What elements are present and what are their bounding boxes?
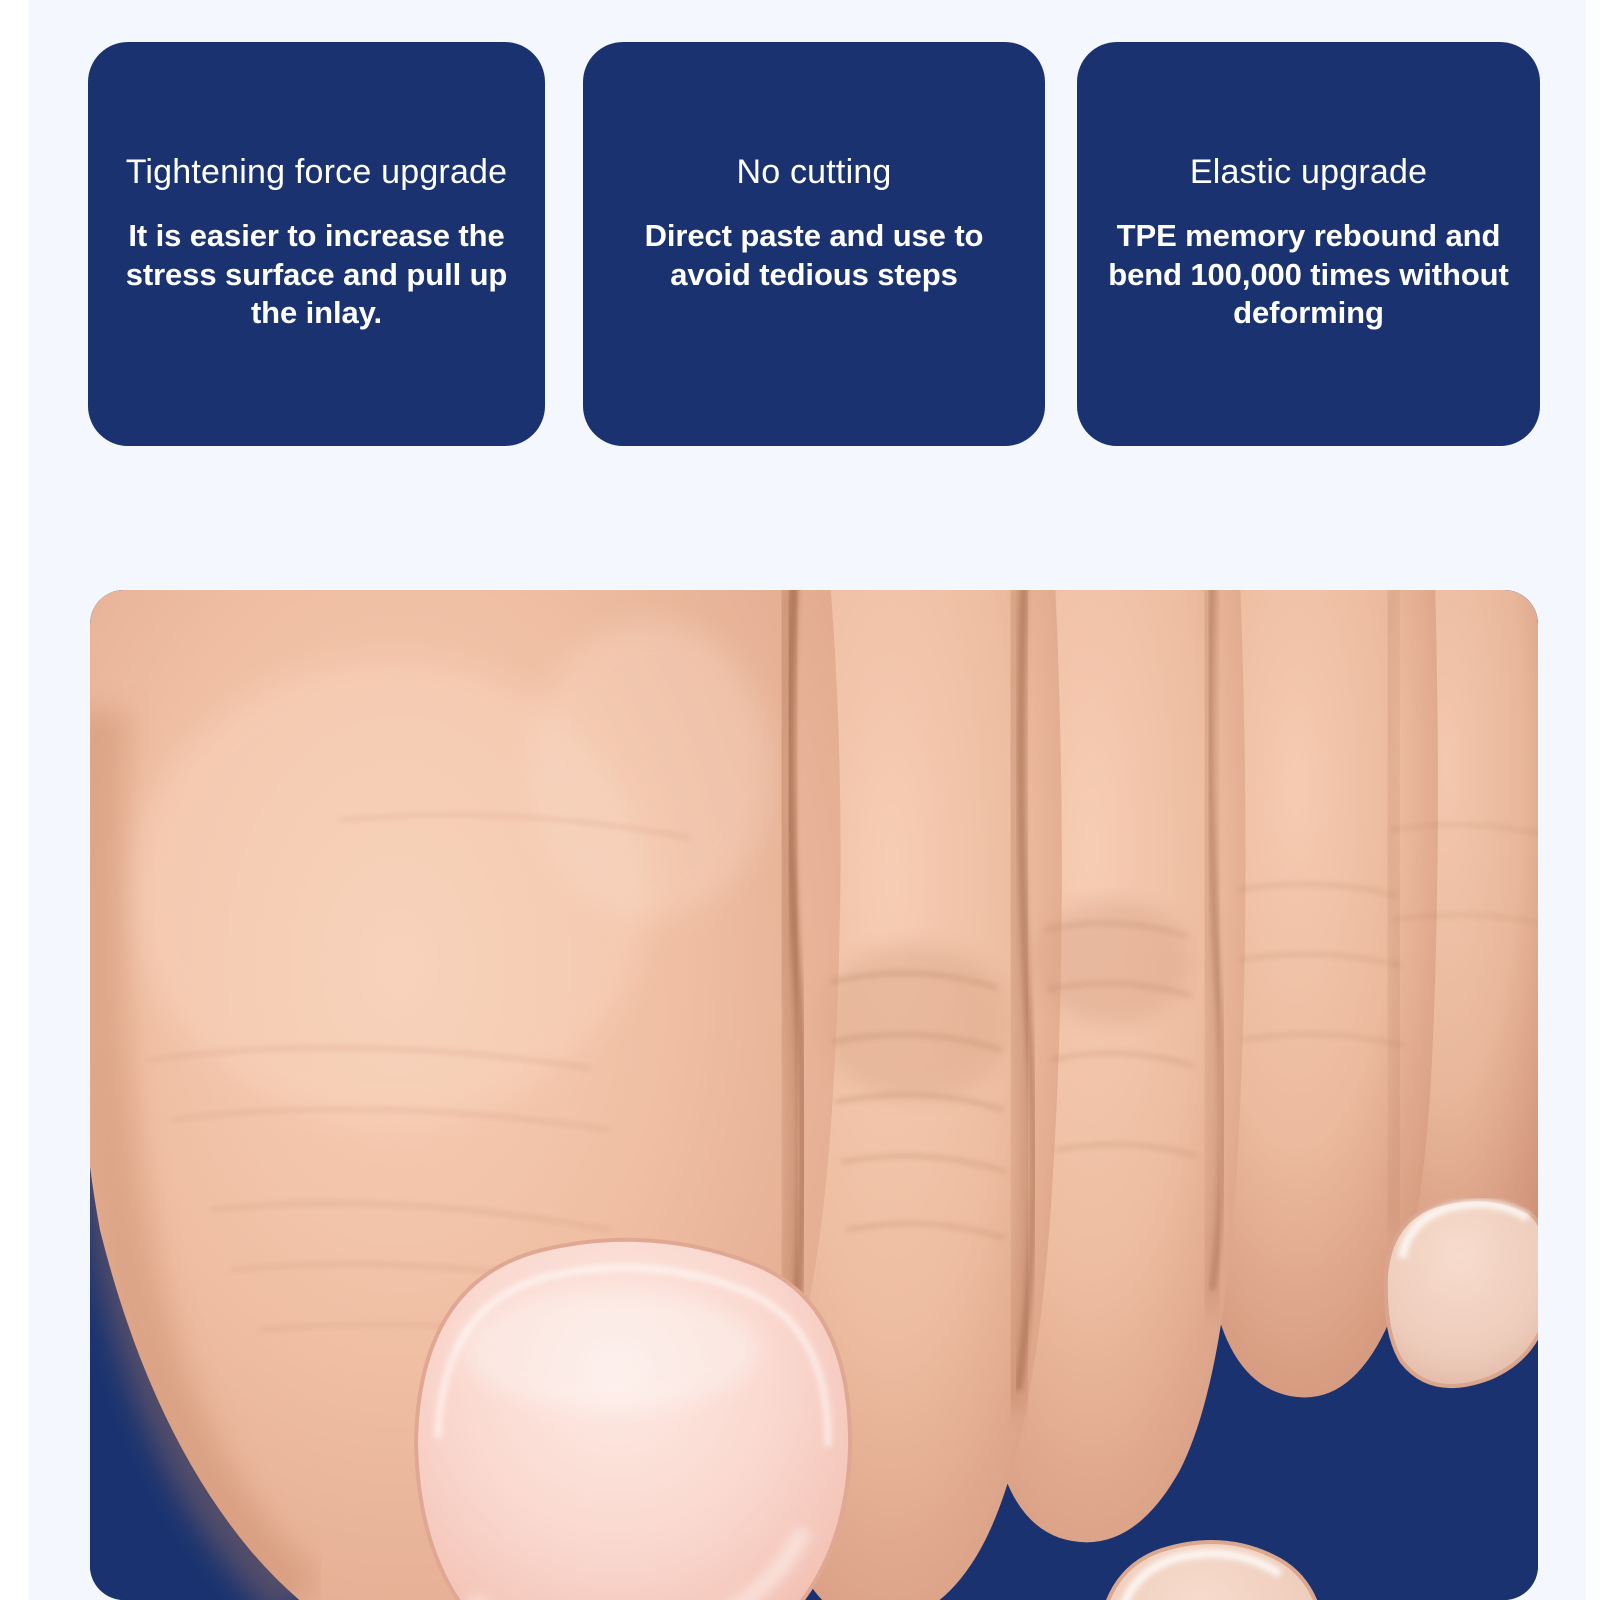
toe-4-nail xyxy=(1386,1199,1538,1386)
feature-card-no-cutting[interactable]: No cutting Direct paste and use to avoid… xyxy=(583,42,1045,446)
toe-2-knuckle xyxy=(820,944,1012,1100)
nail-gloss xyxy=(460,1290,760,1410)
right-edge-gutter xyxy=(1586,0,1600,1600)
big-toenail xyxy=(416,1240,850,1600)
big-toe-highlight-2 xyxy=(530,620,770,920)
feature-card-body: TPE memory rebound and bend 100,000 time… xyxy=(1095,217,1522,332)
feature-card-body: Direct paste and use to avoid tedious st… xyxy=(601,217,1027,294)
feature-card-tightening-force-upgrade[interactable]: Tightening force upgrade It is easier to… xyxy=(88,42,545,446)
product-feature-page: Tightening force upgrade It is easier to… xyxy=(0,0,1600,1600)
product-photo-panel xyxy=(90,590,1538,1600)
feature-card-title: Tightening force upgrade xyxy=(126,154,508,191)
toe-3-knuckle xyxy=(1034,900,1190,1024)
feature-card-elastic-upgrade[interactable]: Elastic upgrade TPE memory rebound and b… xyxy=(1077,42,1540,446)
foot-closeup-photo xyxy=(90,590,1538,1600)
feature-card-body: It is easier to increase the stress surf… xyxy=(106,217,527,332)
feature-card-row: Tightening force upgrade It is easier to… xyxy=(88,42,1540,446)
feature-card-title: Elastic upgrade xyxy=(1190,154,1427,191)
left-edge-gutter xyxy=(0,0,28,1600)
feature-card-title: No cutting xyxy=(736,154,891,191)
